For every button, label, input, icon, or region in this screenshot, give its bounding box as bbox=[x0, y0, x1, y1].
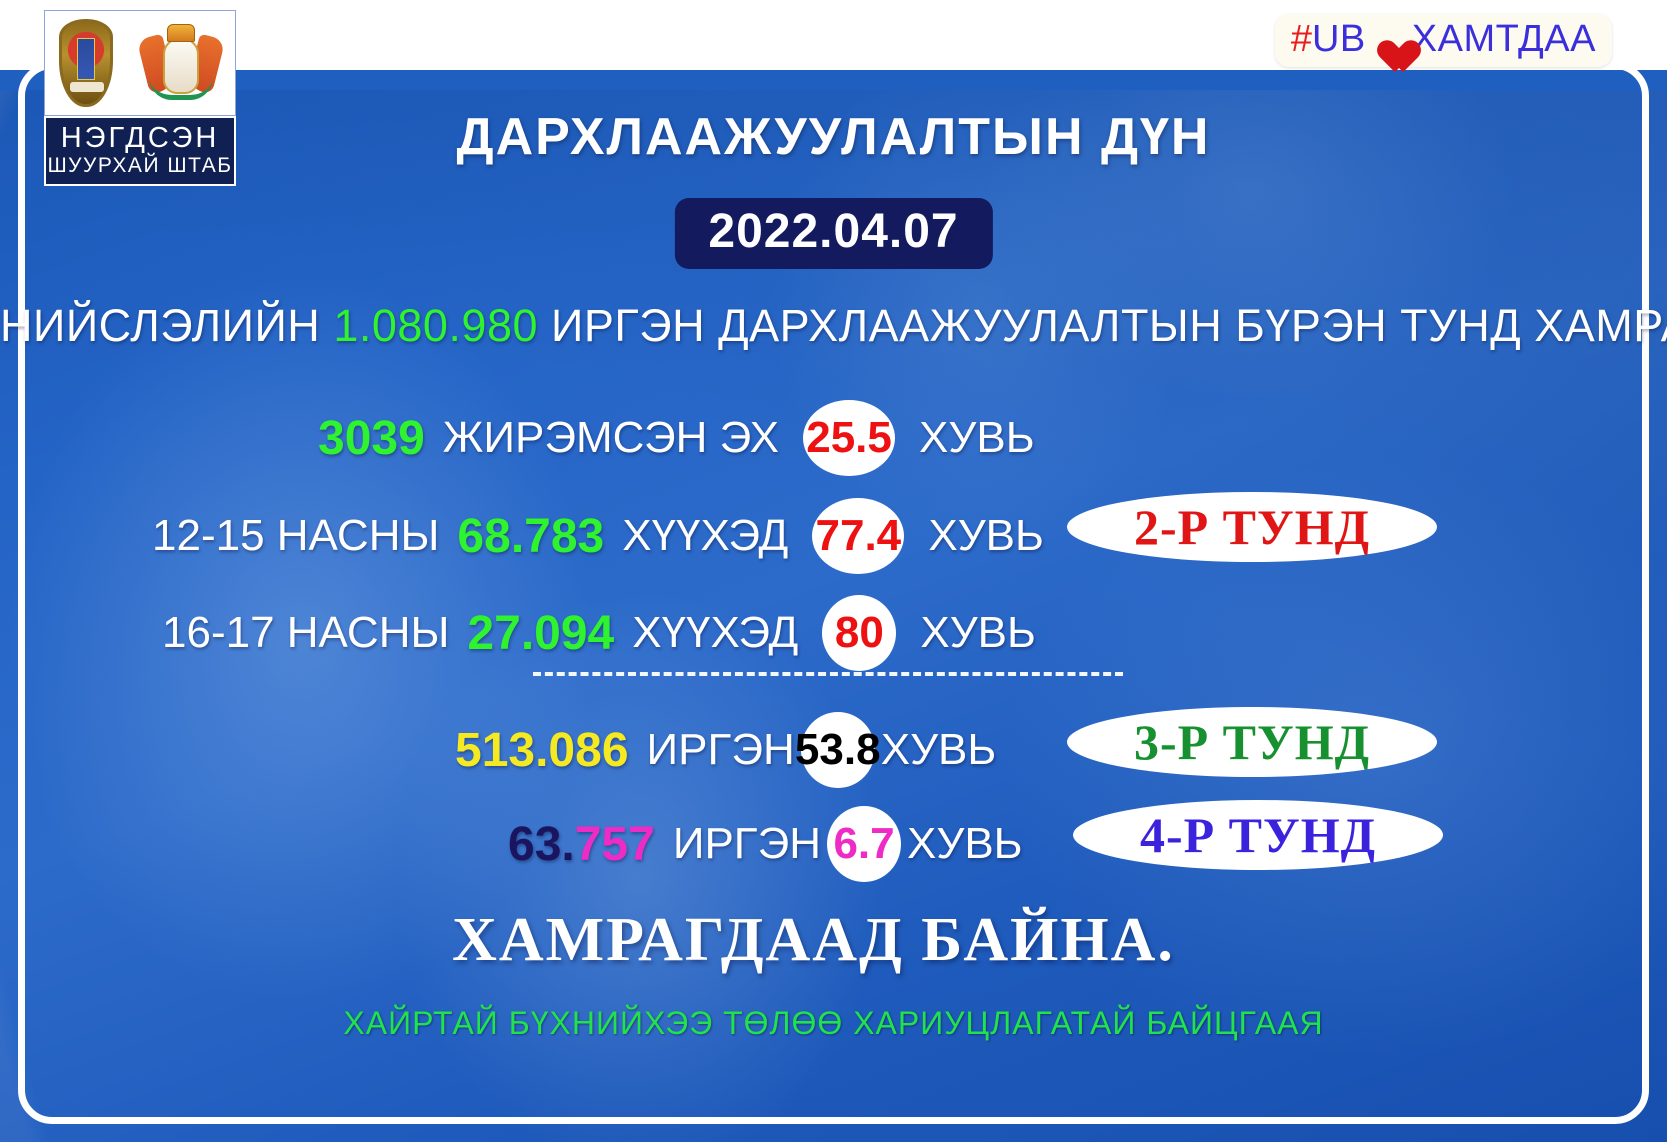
stat-percent-dose4: 6.7 bbox=[827, 806, 901, 882]
hashtag-ub: UB bbox=[1312, 18, 1366, 61]
stat-unit-pregnant: ХУВЬ bbox=[919, 413, 1035, 463]
stat-count-dose4: 63.757 bbox=[508, 817, 655, 872]
stat-prefix-age-12-15: 12-15 НАСНЫ bbox=[152, 511, 439, 561]
stat-percent-dose3: 53.8 bbox=[801, 712, 875, 788]
dashed-separator bbox=[533, 672, 1123, 676]
stat-percent-pregnant: 25.5 bbox=[803, 400, 895, 476]
stat-label-pregnant: ЖИРЭМСЭН ЭХ bbox=[443, 413, 779, 463]
stat-row-age-16-17: 16-17 НАСНЫ 27.094 ХҮҮХЭД 80 ХУВЬ bbox=[162, 595, 1036, 671]
stat-row-age-12-15: 12-15 НАСНЫ 68.783 ХҮҮХЭД 77.4 ХУВЬ bbox=[152, 498, 1044, 574]
stat-percent-age-12-15: 77.4 bbox=[812, 498, 904, 574]
dose-badge-2: 2-Р ТУНД bbox=[1067, 492, 1437, 562]
hashtag-badge: # UB ХАМТДАА bbox=[1275, 14, 1612, 67]
infographic-poster: НЭГДСЭН ШУУРХАЙ ШТАБ # UB ХАМТДАА ДАРХЛА… bbox=[0, 0, 1667, 1142]
logo-emblems bbox=[44, 10, 236, 116]
stat-label-age-12-15: ХҮҮХЭД bbox=[622, 511, 788, 561]
hashtag-word: ХАМТДАА bbox=[1412, 18, 1596, 61]
organization-logo: НЭГДСЭН ШУУРХАЙ ШТАБ bbox=[44, 10, 236, 186]
stat-count-dose3: 513.086 bbox=[455, 723, 629, 778]
stat-row-pregnant: 3039 ЖИРЭМСЭН ЭХ 25.5 ХУВЬ bbox=[318, 400, 1035, 476]
stat-unit-age-16-17: ХУВЬ bbox=[920, 608, 1036, 658]
stat-row-dose3: 513.086 ИРГЭН 53.8 ХУВЬ bbox=[455, 712, 996, 788]
summary-statement: ХАМРАГДААД БАЙНА. bbox=[0, 905, 1667, 976]
dose-badge-4: 4-Р ТУНД bbox=[1073, 800, 1443, 870]
stat-count-pregnant: 3039 bbox=[318, 411, 425, 466]
stat-row-dose4: 63.757 ИРГЭН 6.7 ХУВЬ bbox=[508, 806, 1023, 882]
heart-icon bbox=[1369, 21, 1409, 59]
stat-unit-age-12-15: ХУВЬ bbox=[928, 511, 1044, 561]
stat-percent-age-16-17: 80 bbox=[822, 595, 896, 671]
stat-count-dose4-part1: 63. bbox=[508, 818, 575, 871]
stat-count-dose4-part2: 757 bbox=[575, 818, 655, 871]
stat-prefix-age-16-17: 16-17 НАСНЫ bbox=[162, 608, 449, 658]
stat-label-dose3: ИРГЭН bbox=[647, 725, 795, 775]
footer-slogan: ХАЙРТАЙ БҮХНИЙХЭЭ ТӨЛӨӨ ХАРИУЦЛАГАТАЙ БА… bbox=[0, 1005, 1667, 1042]
stat-label-age-16-17: ХҮҮХЭД bbox=[632, 608, 798, 658]
stat-count-age-16-17: 27.094 bbox=[467, 606, 614, 661]
stat-unit-dose4: ХУВЬ bbox=[907, 819, 1023, 869]
hash-symbol: # bbox=[1291, 18, 1312, 61]
garuda-emblem-icon bbox=[141, 20, 221, 106]
stat-unit-dose3: ХУВЬ bbox=[881, 725, 997, 775]
logo-caption-line2: ШУУРХАЙ ШТАБ bbox=[46, 154, 234, 177]
logo-caption-line1: НЭГДСЭН bbox=[46, 123, 234, 154]
police-shield-icon bbox=[59, 19, 113, 107]
stat-label-dose4: ИРГЭН bbox=[673, 819, 821, 869]
stat-count-age-12-15: 68.783 bbox=[457, 509, 604, 564]
dose-badge-3: 3-Р ТУНД bbox=[1067, 707, 1437, 777]
logo-caption: НЭГДСЭН ШУУРХАЙ ШТАБ bbox=[44, 116, 236, 186]
